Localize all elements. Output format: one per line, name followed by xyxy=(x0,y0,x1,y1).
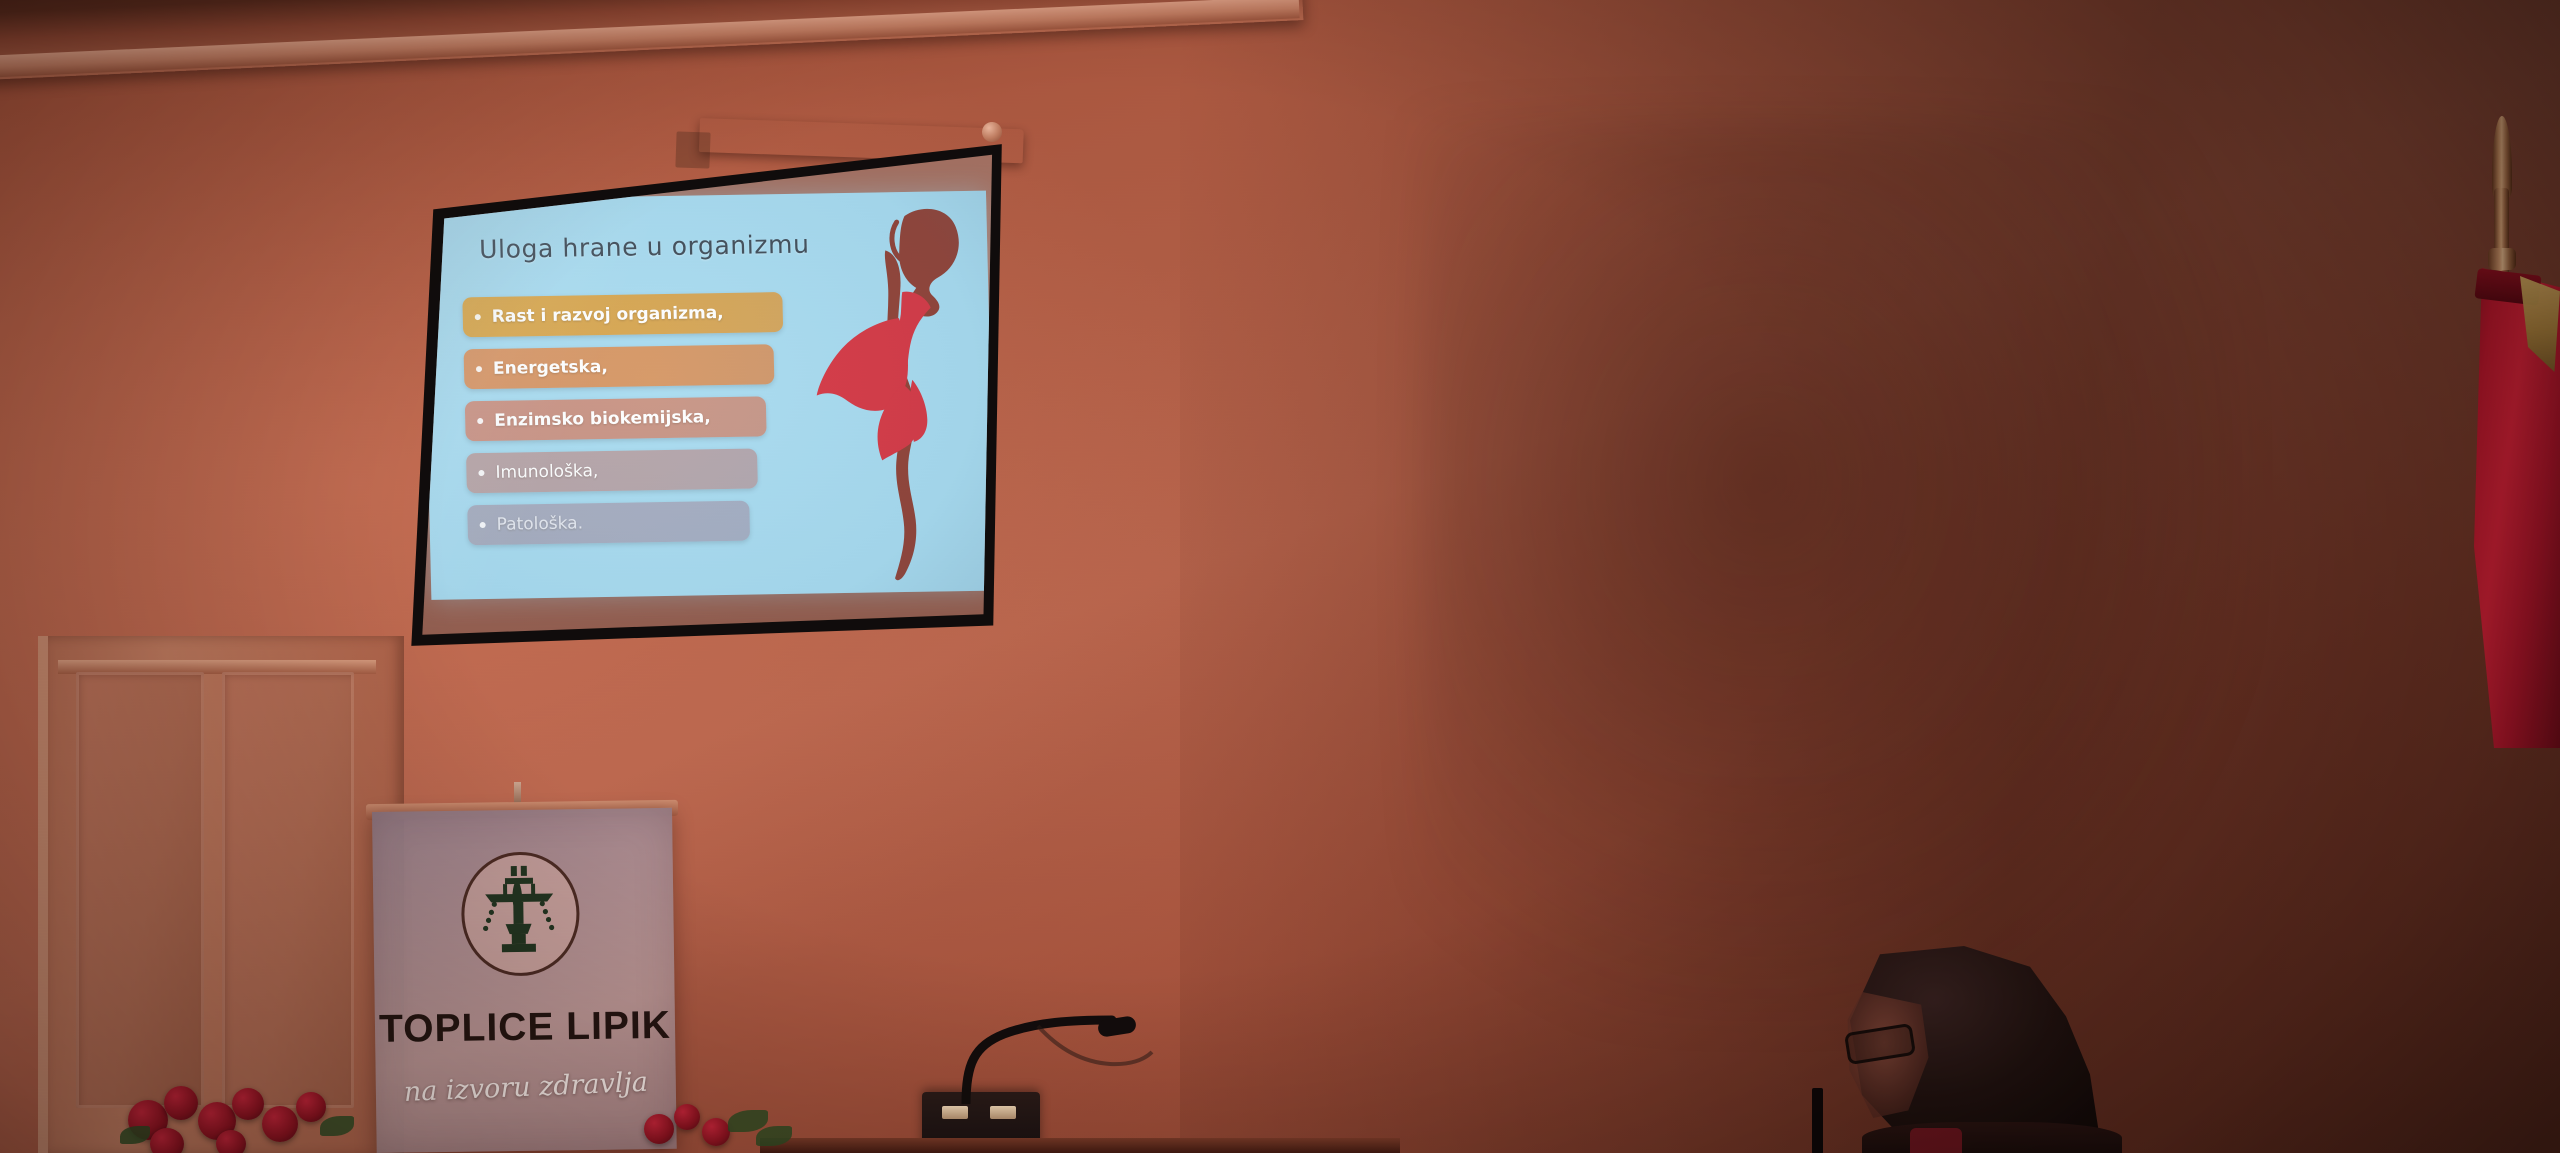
photo-vignette xyxy=(0,0,2560,1153)
presentation-room-photo: Uloga hrane u organizmu Rast i razvoj or… xyxy=(0,0,2560,1153)
